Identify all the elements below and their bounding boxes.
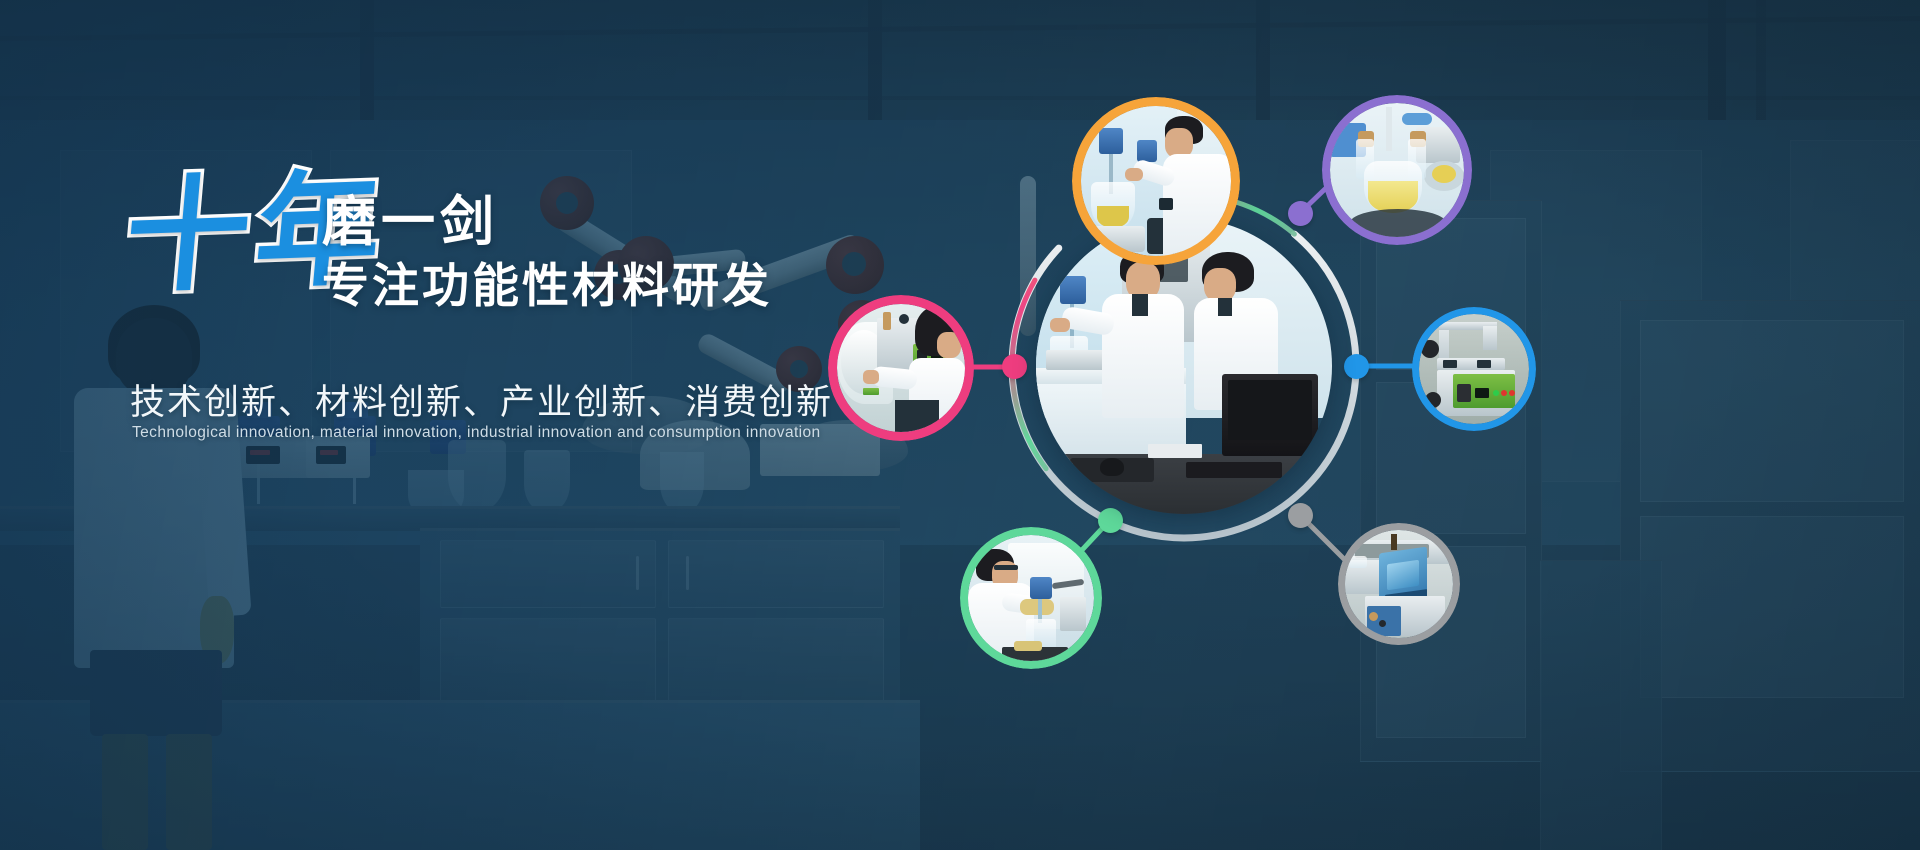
bubble-reactor-sampling[interactable] (1072, 97, 1240, 265)
headline-line-1: 磨一剑 (322, 192, 772, 252)
banner-text-block: 十年 磨一剑 专注功能性材料研发 技术创新、材料创新、产业创新、消费创新 Tec… (126, 178, 826, 338)
bubble-test-machine[interactable] (1412, 307, 1536, 431)
bubble-winding-machine[interactable] (828, 295, 974, 441)
node-dot-pink (1002, 354, 1027, 379)
brush-headline-row: 十年 磨一剑 专注功能性材料研发 (126, 178, 826, 338)
hero-stirrer-motor (1060, 276, 1086, 304)
bubble-winding-machine-ring (828, 295, 974, 441)
bubble-analyzer-console-ring (1338, 523, 1460, 645)
bubble-flask-emulsion-ring (1322, 95, 1472, 245)
bubble-flask-emulsion[interactable] (1322, 95, 1472, 245)
hero-person1-collar (1132, 294, 1148, 316)
headline-stack: 磨一剑 专注功能性材料研发 (322, 192, 772, 315)
headline-line-2: 专注功能性材料研发 (322, 258, 772, 314)
circle-collage (1000, 95, 1860, 795)
hero-keyboard[interactable] (1186, 462, 1282, 478)
bubble-coating-prep-ring (960, 527, 1102, 669)
node-dot-blue (1344, 354, 1369, 379)
hero-mouse[interactable] (1100, 458, 1124, 476)
hero-banner: 十年 磨一剑 专注功能性材料研发 技术创新、材料创新、产业创新、消费创新 Tec… (0, 0, 1920, 850)
bubble-test-machine-ring (1412, 307, 1536, 431)
subtitle-chinese: 技术创新、材料创新、产业创新、消费创新 (130, 374, 833, 425)
hero-monitor-screen (1228, 380, 1312, 440)
hero-person2-collar (1218, 298, 1232, 316)
hero-person2-face (1204, 268, 1236, 302)
hero-person1-hand (1050, 318, 1070, 332)
subtitle-english: Technological innovation, material innov… (132, 424, 821, 442)
bubble-coating-prep[interactable] (960, 527, 1102, 669)
bubble-analyzer-console[interactable] (1338, 523, 1460, 645)
hero-photo-two-researchers-at-workstation[interactable] (1036, 218, 1332, 514)
bubble-reactor-sampling-ring (1072, 97, 1240, 265)
hero-paper (1148, 444, 1202, 458)
